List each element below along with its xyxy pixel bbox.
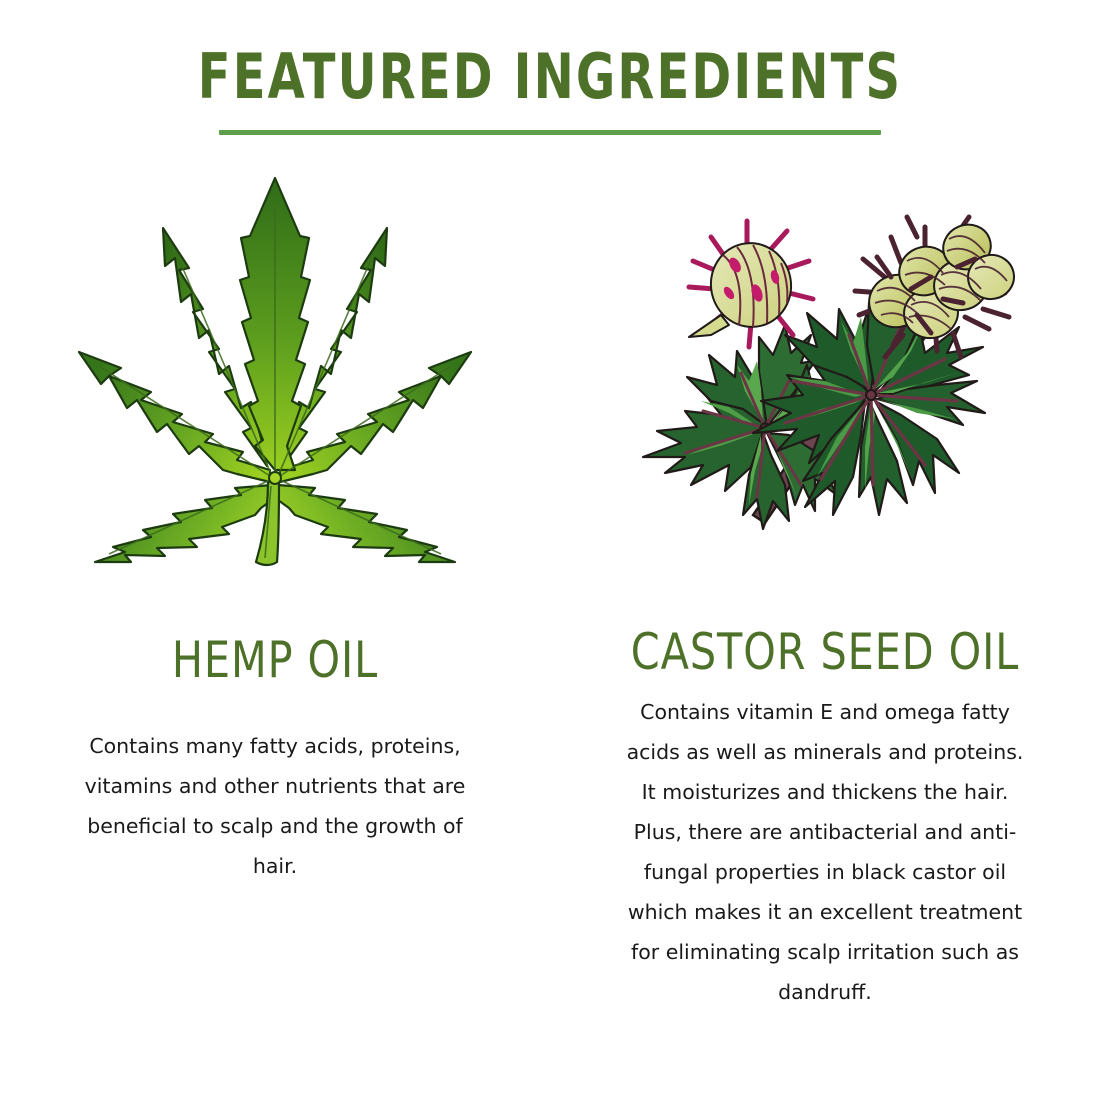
castor-seed-pod-single [689, 221, 813, 347]
page-header: FEATURED INGREDIENTS [0, 42, 1100, 135]
castor-plant-art [550, 160, 1100, 580]
ingredient-title-hemp-oil: HEMP OIL [22, 632, 528, 688]
ingredient-card-castor-seed-oil: CASTOR SEED OIL Contains vitamin E and o… [550, 160, 1100, 1100]
hemp-leaf-art [0, 160, 550, 588]
ingredient-card-hemp-oil: HEMP OIL Contains many fatty acids, prot… [0, 160, 550, 1100]
page-title: FEATURED INGREDIENTS [77, 42, 1023, 112]
ingredient-columns: HEMP OIL Contains many fatty acids, prot… [0, 160, 1100, 1100]
ingredient-description-hemp-oil: Contains many fatty acids, proteins, vit… [75, 726, 475, 886]
castor-plant-icon [625, 185, 1025, 555]
title-divider [219, 130, 881, 135]
featured-ingredients-page: FEATURED INGREDIENTS [0, 0, 1100, 1100]
ingredient-title-castor-seed-oil: CASTOR SEED OIL [572, 624, 1078, 680]
ingredient-description-castor-seed-oil: Contains vitamin E and omega fatty acids… [620, 692, 1030, 1012]
hemp-leaf-icon [65, 170, 485, 570]
